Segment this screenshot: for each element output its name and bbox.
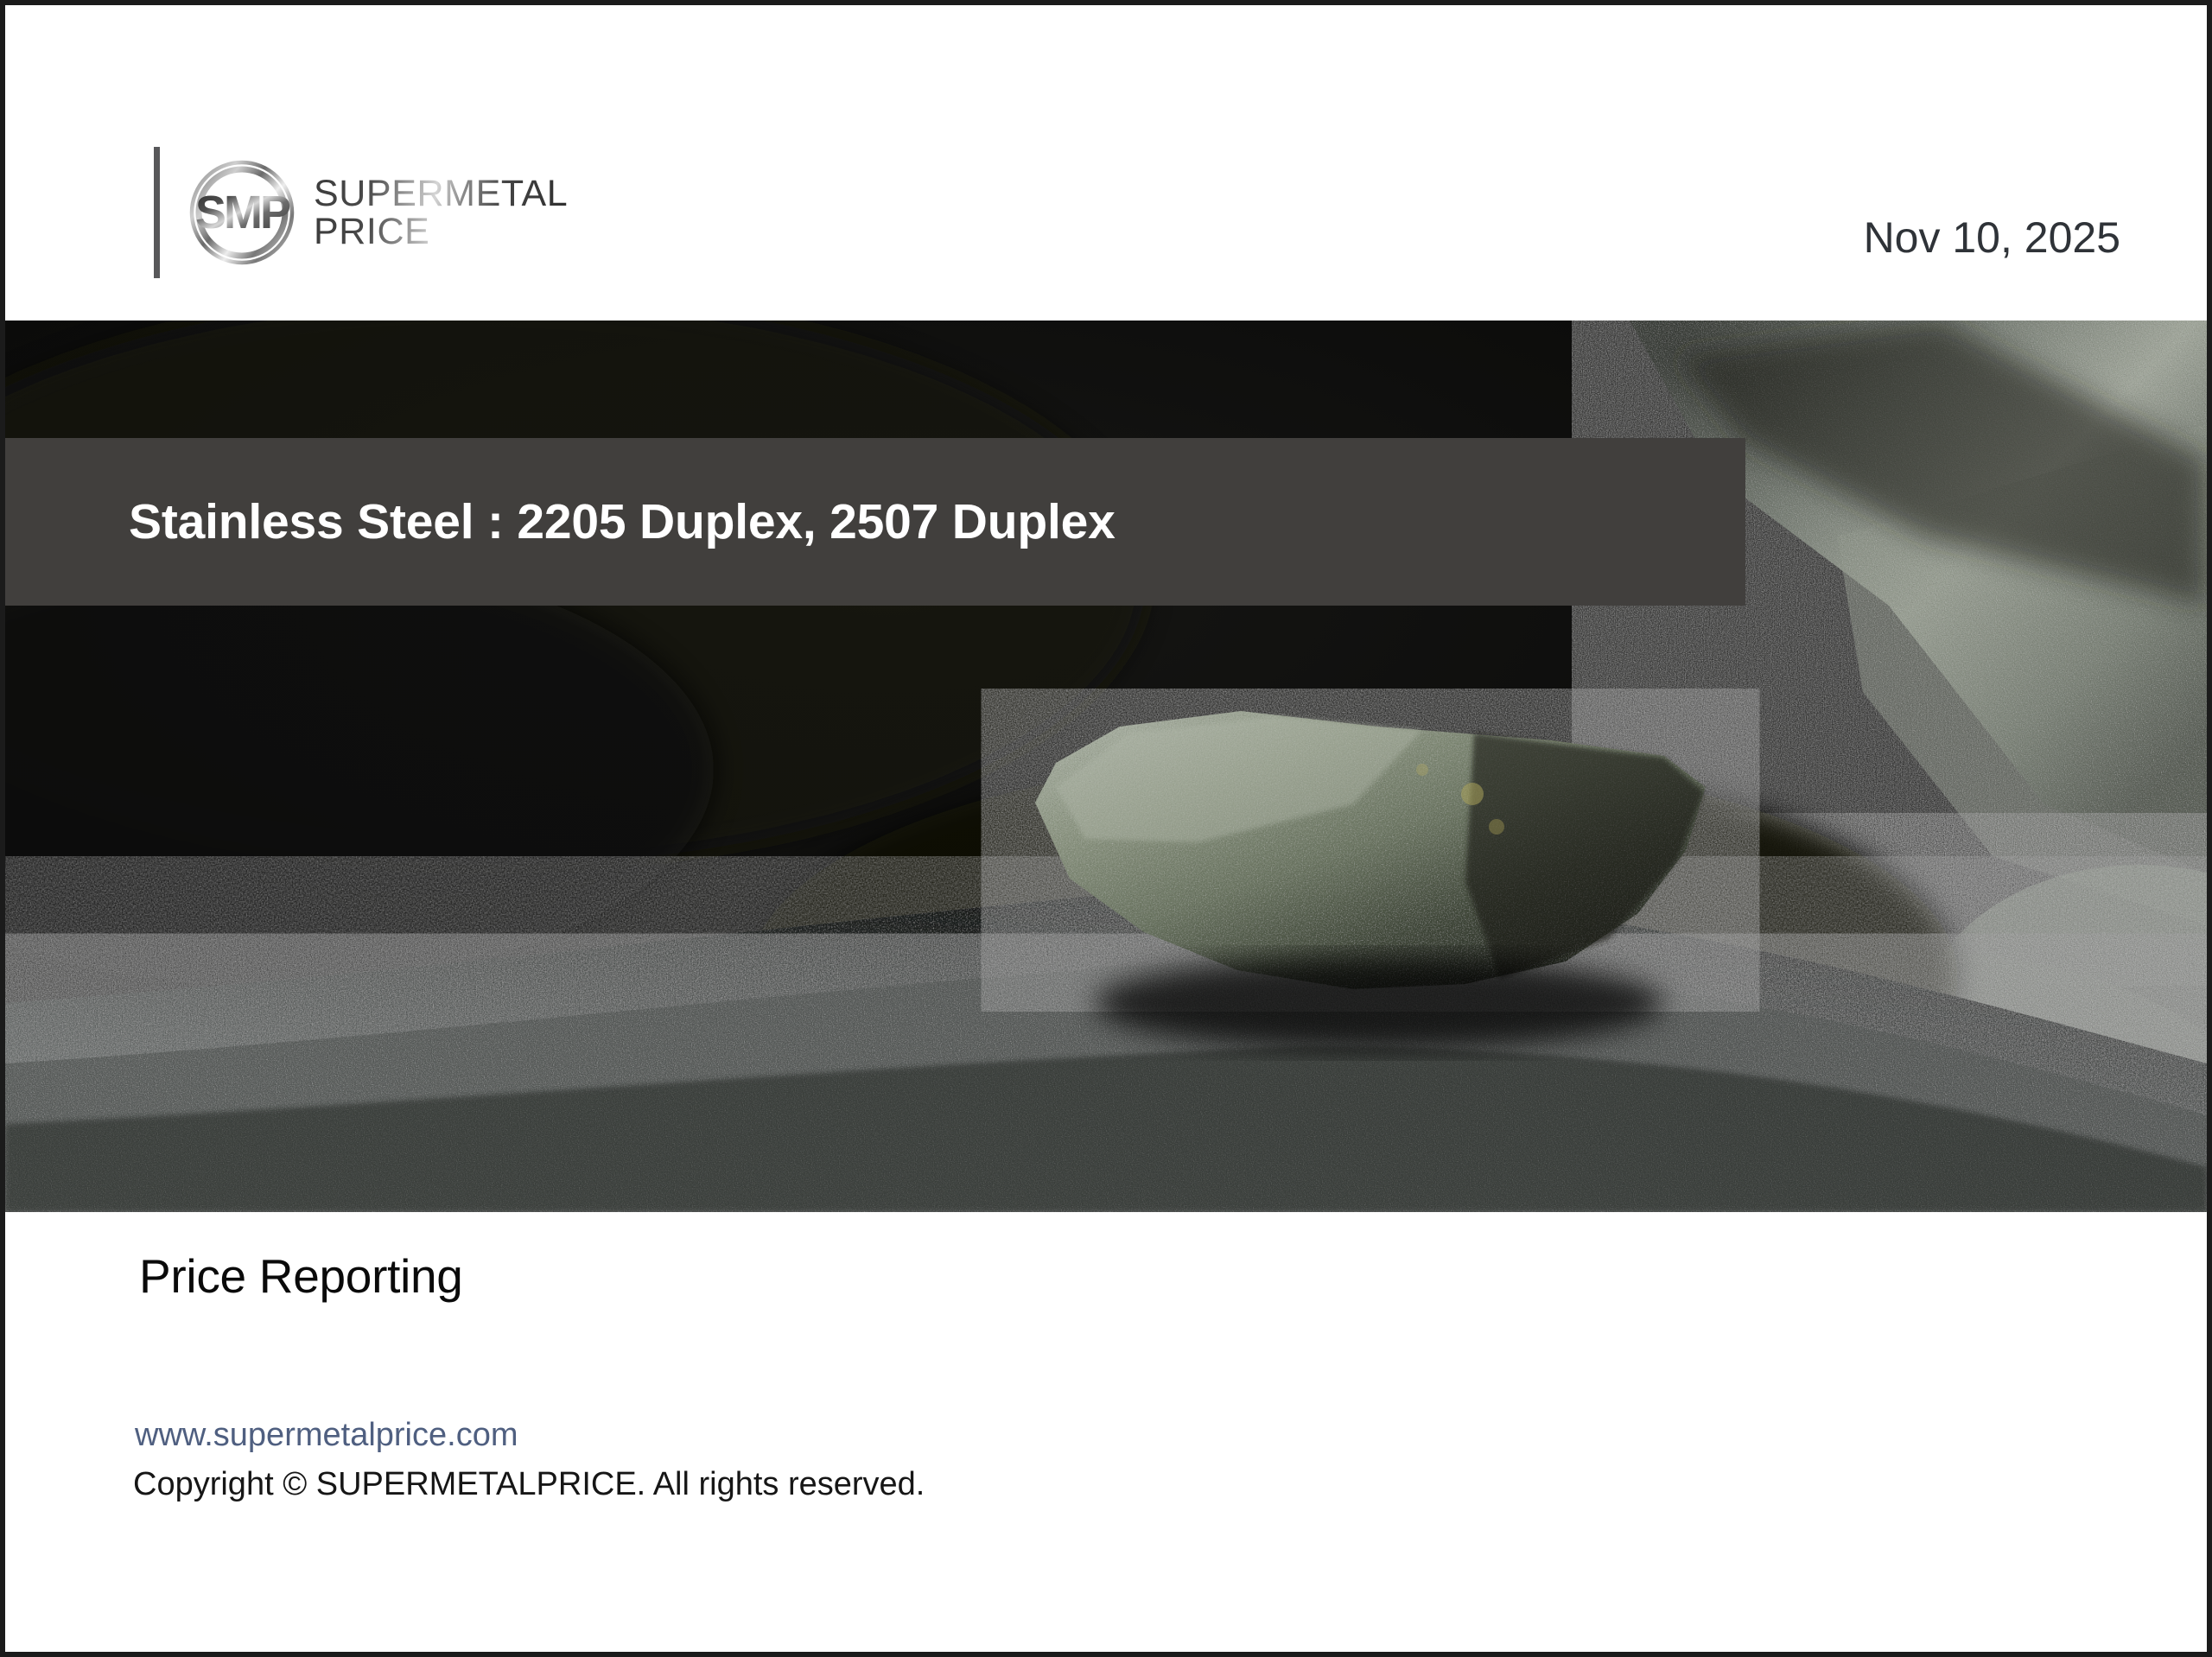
copyright-notice: Copyright © SUPERMETALPRICE. All rights …: [133, 1466, 925, 1503]
hero-title-banner: Stainless Steel : 2205 Duplex, 2507 Dupl…: [5, 438, 1745, 606]
svg-text:SMP: SMP: [195, 187, 290, 238]
smp-circle-monogram-icon: SMP: [189, 160, 295, 265]
brand-divider-rule: [154, 147, 160, 278]
report-cover-page: SMP SUPERMETAL PRICE Nov 10, 2025: [0, 0, 2212, 1657]
website-link[interactable]: www.supermetalprice.com: [135, 1417, 518, 1454]
report-date: Nov 10, 2025: [1864, 213, 2120, 263]
page-footer: Price Reporting www.supermetalprice.com …: [5, 1212, 2207, 1652]
hero-section: Stainless Steel : 2205 Duplex, 2507 Dupl…: [5, 321, 2207, 1212]
brand-lockup: SMP SUPERMETAL PRICE: [154, 143, 568, 282]
section-title: Price Reporting: [139, 1248, 463, 1304]
page-header: SMP SUPERMETAL PRICE Nov 10, 2025: [5, 5, 2207, 321]
brand-name-line-2: PRICE: [314, 213, 568, 251]
brand-wordmark: SUPERMETAL PRICE: [314, 175, 568, 251]
brand-name-line-1: SUPERMETAL: [314, 175, 568, 213]
hero-title: Stainless Steel : 2205 Duplex, 2507 Dupl…: [129, 493, 1116, 550]
